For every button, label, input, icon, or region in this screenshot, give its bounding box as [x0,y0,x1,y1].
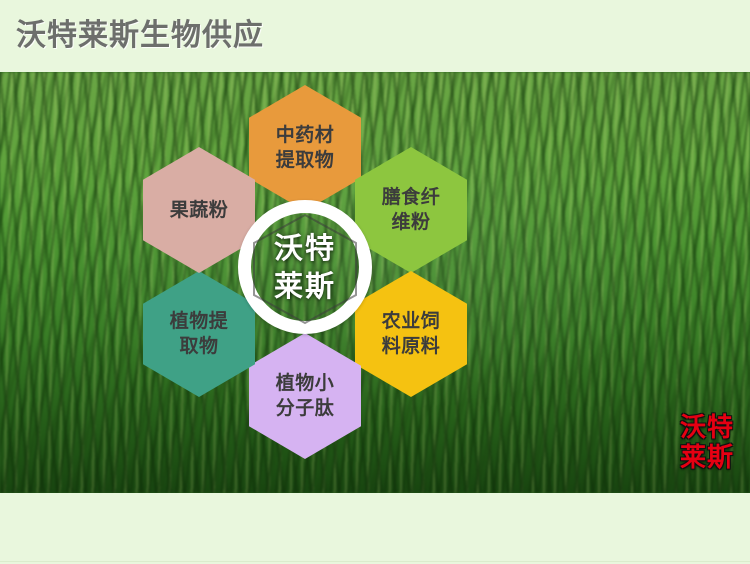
page-footer [0,493,750,564]
footer-divider [0,561,750,562]
hex-tile-agricultural-feed-material[interactable]: 农业饲 料原料 [355,271,467,397]
slide-page: 沃特莱斯生物供应 中药材 提取物 膳食纤 维粉 [0,0,750,564]
hex-label-line1: 中药材 [267,123,343,148]
hex-label-line2: 维粉 [373,210,449,235]
hex-tile-chinese-medicine-extract[interactable]: 中药材 提取物 [249,85,361,211]
hex-label-line2: 分子肽 [267,396,343,421]
hex-label-line1: 果蔬粉 [161,198,237,223]
hex-tile-plant-extract[interactable]: 植物提 取物 [143,271,255,397]
hex-label-line1: 膳食纤 [373,185,449,210]
hexagon-diagram: 中药材 提取物 膳食纤 维粉 农业饲 料原料 [130,85,480,445]
watermark-line1: 沃特 [680,413,734,443]
hex-label-line1: 植物小 [267,371,343,396]
hex-label-line2: 取物 [161,334,237,359]
center-hexagon-outline-icon [252,213,358,325]
brand-watermark: 沃特 莱斯 [680,413,734,473]
watermark-line2: 莱斯 [680,443,734,473]
banner-image: 中药材 提取物 膳食纤 维粉 农业饲 料原料 [0,72,750,493]
hex-label-line1: 农业饲 [373,309,449,334]
hex-tile-plant-small-molecule-peptide[interactable]: 植物小 分子肽 [249,333,361,459]
page-title: 沃特莱斯生物供应 [16,17,264,55]
hex-label-line1: 植物提 [161,309,237,334]
hex-label-line2: 料原料 [373,334,449,359]
page-header: 沃特莱斯生物供应 [0,0,750,72]
hex-tile-dietary-fiber-powder[interactable]: 膳食纤 维粉 [355,147,467,273]
hex-label-line2: 提取物 [267,148,343,173]
